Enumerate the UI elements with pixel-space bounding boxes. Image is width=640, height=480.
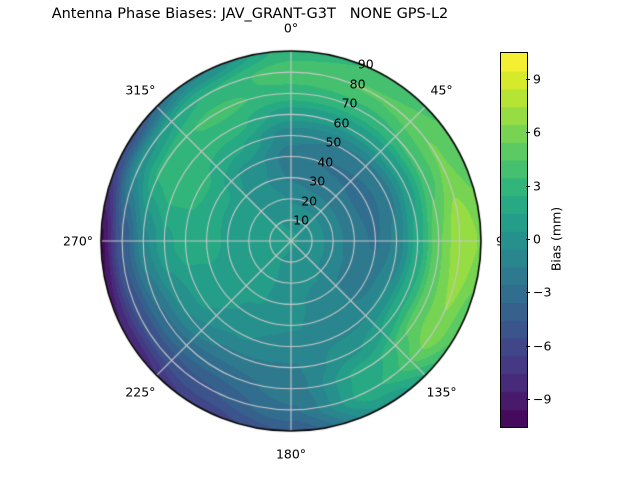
polar-contour-plot [0,0,640,480]
colorbar-tick-mark [526,239,530,240]
radial-tick-40: 40 [317,154,333,169]
radial-tick-30: 30 [309,174,325,189]
radial-tick-10: 10 [293,213,309,228]
angular-tick-315: 315° [125,83,155,98]
angular-tick-0: 0° [284,21,298,36]
angular-tick-180: 180° [276,447,306,462]
colorbar-tick-mark [526,186,530,187]
radial-tick-50: 50 [325,135,341,150]
angular-tick-270: 270° [63,234,93,249]
colorbar-tick-label: 9 [533,71,541,86]
colorbar-tick-mark [526,399,530,400]
colorbar-gradient [500,52,528,428]
colorbar-tick-mark [526,132,530,133]
colorbar-tick-label: 0 [533,232,541,247]
radial-tick-70: 70 [342,96,358,111]
colorbar-axis-label: Bias (mm) [549,207,564,271]
colorbar-tick-mark [526,346,530,347]
angular-tick-135: 135° [427,384,457,399]
colorbar-tick-label: 6 [533,125,541,140]
radial-tick-20: 20 [301,193,317,208]
angular-tick-45: 45° [431,83,453,98]
colorbar-tick-label: 3 [533,178,541,193]
colorbar-tick-label: −9 [533,392,551,407]
radial-tick-80: 80 [350,76,366,91]
polar-chart-figure: Antenna Phase Biases: JAV_GRANT-G3T NONE… [0,0,640,480]
colorbar: 9630−3−6−9 [500,52,526,426]
colorbar-tick-mark [526,79,530,80]
colorbar-tick-label: −6 [533,338,551,353]
radial-tick-60: 60 [334,115,350,130]
colorbar-tick-mark [526,292,530,293]
colorbar-tick-label: −3 [533,285,551,300]
angular-tick-225: 225° [125,384,155,399]
radial-tick-90: 90 [358,57,374,72]
